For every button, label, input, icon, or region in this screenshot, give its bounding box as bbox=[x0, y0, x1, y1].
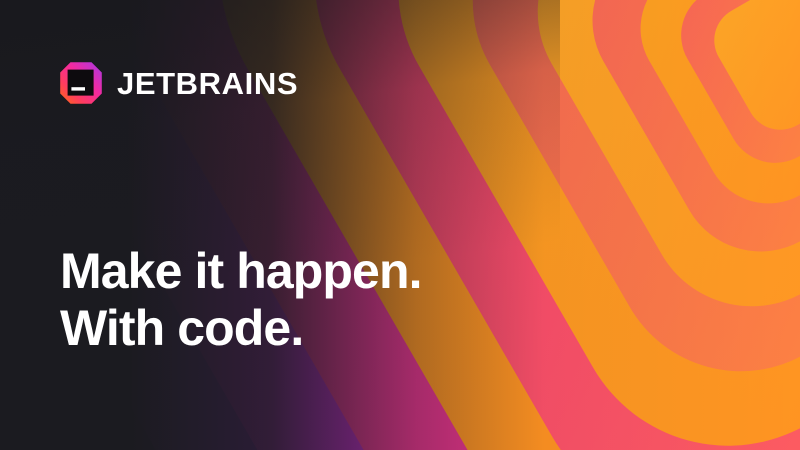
jetbrains-banner: JETBRAINS Make it happen. With code. bbox=[0, 0, 800, 450]
headline-line-2: With code. bbox=[60, 300, 422, 357]
brand-lockup: JETBRAINS bbox=[59, 61, 298, 105]
headline-line-1: Make it happen. bbox=[60, 243, 422, 300]
headline: Make it happen. With code. bbox=[60, 243, 422, 357]
jetbrains-logo-mark bbox=[59, 61, 103, 105]
jetbrains-wordmark: JETBRAINS bbox=[117, 68, 298, 99]
